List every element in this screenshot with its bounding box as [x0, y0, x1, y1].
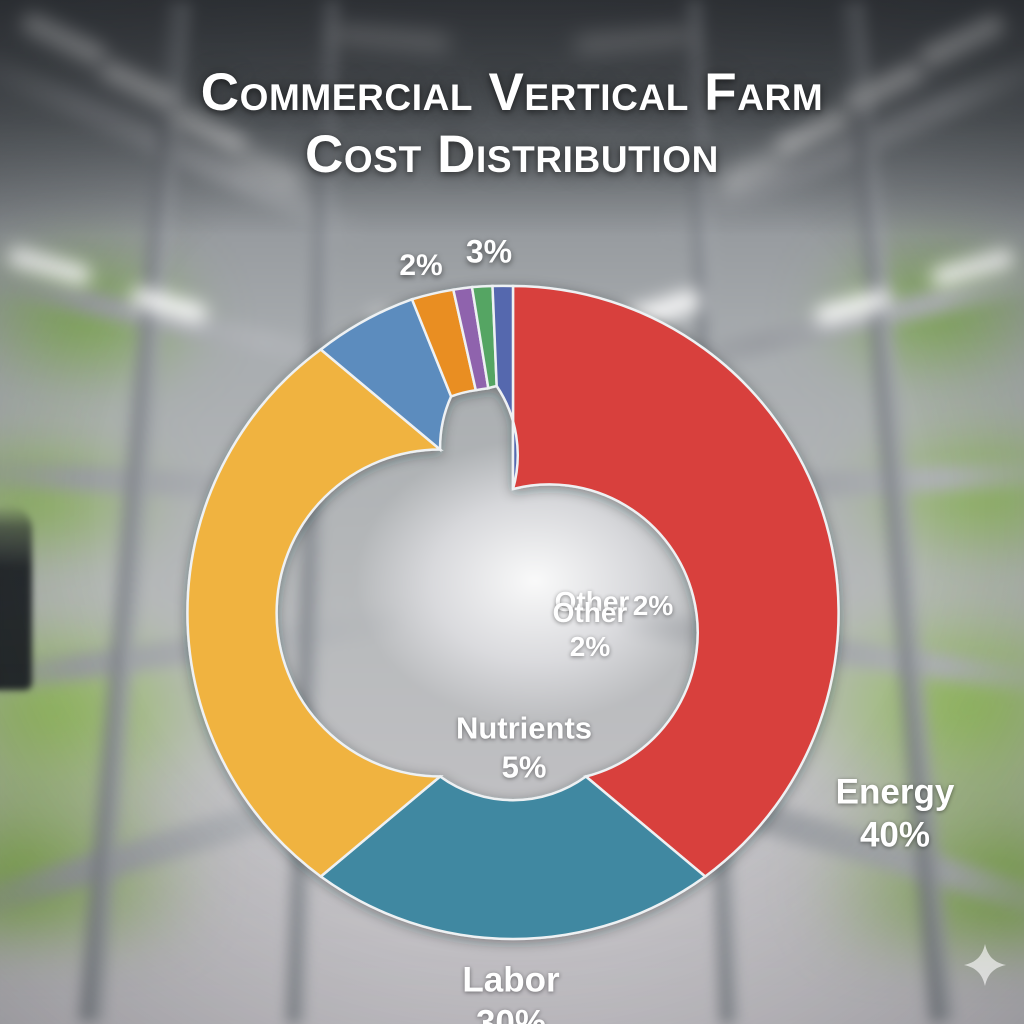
donut-chart: Energy 40% Capital Expenses 20% Labor 30…	[186, 286, 840, 940]
slice-labor[interactable]	[187, 350, 440, 877]
slice-energy[interactable]	[513, 286, 839, 877]
donut-chart-svg	[186, 286, 840, 940]
title-scrim	[0, 0, 1024, 235]
chart-canvas: Commercial Vertical Farm Cost Distributi…	[0, 0, 1024, 1024]
slice-other-navy[interactable]	[493, 286, 518, 489]
donut-slices	[187, 286, 838, 939]
